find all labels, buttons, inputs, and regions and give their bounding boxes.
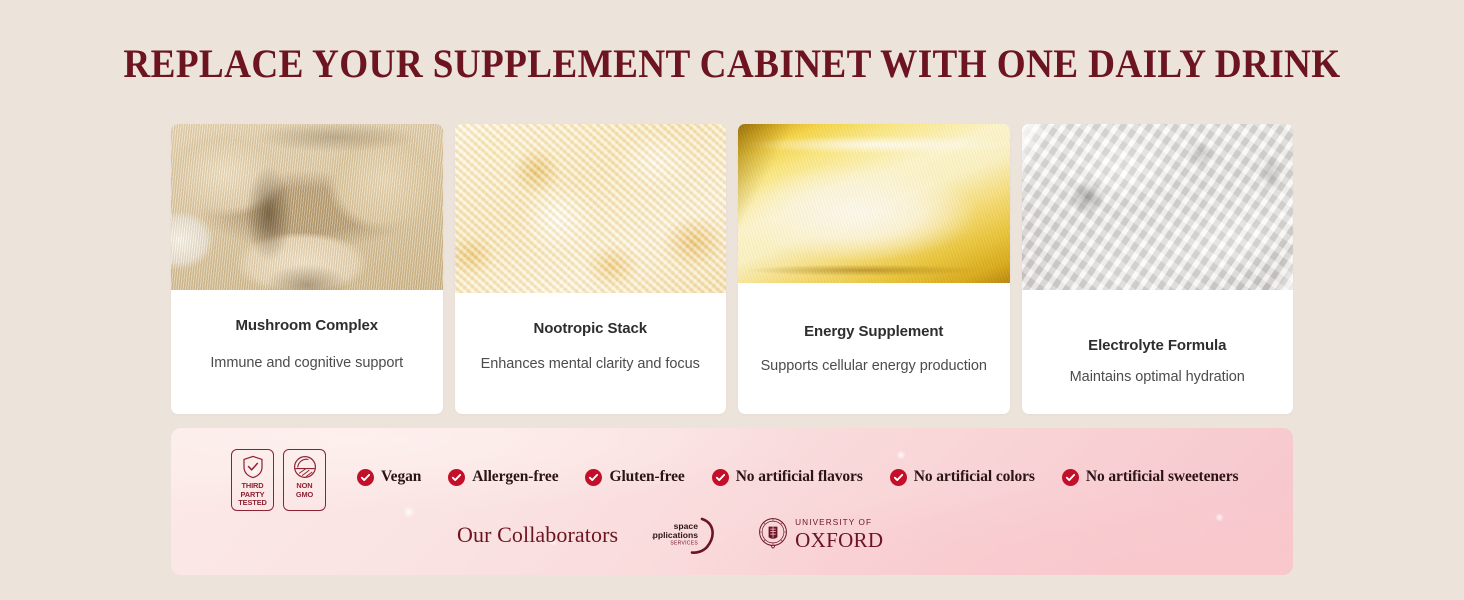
seal-label: NON GMO — [296, 482, 313, 499]
card-body: Mushroom Complex Immune and cognitive su… — [171, 290, 443, 414]
check-circle-icon — [585, 469, 602, 486]
claim-no-artificial-colors: No artificial colors — [890, 468, 1035, 486]
claim-label: Allergen-free — [472, 468, 558, 486]
claim-label: Gluten-free — [609, 468, 684, 486]
check-circle-icon — [712, 469, 729, 486]
card-body: Electrolyte Formula Maintains optimal hy… — [1022, 290, 1294, 414]
seal-label: THIRD PARTY TESTED — [238, 482, 267, 508]
oxford-wordmark: UNIVERSITY OF OXFORD — [795, 519, 883, 550]
seal-third-party-tested[interactable]: THIRD PARTY TESTED — [231, 449, 274, 511]
shield-check-icon — [242, 455, 264, 479]
sparkle-decoration — [1215, 513, 1224, 522]
certification-seals: THIRD PARTY TESTED — [231, 449, 326, 511]
promo-page: REPLACE YOUR SUPPLEMENT CABINET WITH ONE… — [0, 0, 1464, 600]
golden-liquid-photo — [738, 124, 1010, 283]
seal-label-line: GMO — [296, 491, 313, 500]
oxford-line-oxford: OXFORD — [795, 530, 883, 551]
sparkle-decoration — [896, 450, 906, 460]
claims-list: Vegan Allergen-free Gluten-free No artif… — [357, 468, 1238, 486]
svg-text:SERVICES: SERVICES — [671, 541, 699, 547]
check-circle-icon — [890, 469, 907, 486]
page-title: REPLACE YOUR SUPPLEMENT CABINET WITH ONE… — [51, 40, 1413, 88]
claim-no-artificial-flavors: No artificial flavors — [712, 468, 863, 486]
collaborators-title: Our Collaborators — [457, 522, 618, 548]
claim-allergen-free: Allergen-free — [448, 468, 558, 486]
card-description: Supports cellular energy production — [761, 357, 987, 376]
ingredient-card-energy-supplement[interactable]: Energy Supplement Supports cellular ener… — [738, 124, 1010, 414]
oxford-crest-icon — [758, 517, 788, 553]
card-description: Maintains optimal hydration — [1070, 368, 1245, 387]
card-description: Immune and cognitive support — [210, 354, 403, 373]
seal-non-gmo[interactable]: NON GMO — [283, 449, 326, 511]
ingredient-card-row: Mushroom Complex Immune and cognitive su… — [171, 124, 1293, 414]
trust-badges-panel: THIRD PARTY TESTED — [171, 428, 1293, 575]
svg-text:applications: applications — [652, 530, 698, 540]
card-title: Nootropic Stack — [533, 320, 647, 337]
claim-no-artificial-sweeteners: No artificial sweeteners — [1062, 468, 1239, 486]
collaborators-row: Our Collaborators space applications SER… — [457, 516, 883, 554]
claim-label: No artificial colors — [914, 468, 1035, 486]
sparkle-decoration — [403, 506, 415, 518]
card-title: Energy Supplement — [804, 323, 943, 340]
card-description: Enhances mental clarity and focus — [481, 355, 700, 374]
university-of-oxford-logo[interactable]: UNIVERSITY OF OXFORD — [758, 517, 883, 553]
salt-crystals-photo — [1022, 124, 1294, 290]
ingredient-card-electrolyte-formula[interactable]: Electrolyte Formula Maintains optimal hy… — [1022, 124, 1294, 414]
lions-mane-mushroom-photo — [171, 124, 443, 290]
white-gold-powder-photo — [455, 124, 727, 293]
check-circle-icon — [357, 469, 374, 486]
check-circle-icon — [448, 469, 465, 486]
ingredient-card-mushroom-complex[interactable]: Mushroom Complex Immune and cognitive su… — [171, 124, 443, 414]
card-body: Energy Supplement Supports cellular ener… — [738, 283, 1010, 414]
card-title: Mushroom Complex — [235, 317, 378, 334]
ingredient-card-nootropic-stack[interactable]: Nootropic Stack Enhances mental clarity … — [455, 124, 727, 414]
space-applications-services-logo[interactable]: space applications SERVICES — [652, 516, 724, 554]
oxford-line-university-of: UNIVERSITY OF — [795, 519, 883, 527]
seal-label-line: TESTED — [238, 499, 267, 508]
card-title: Electrolyte Formula — [1088, 337, 1226, 354]
claim-label: No artificial sweeteners — [1086, 468, 1239, 486]
claim-vegan: Vegan — [357, 468, 421, 486]
claim-gluten-free: Gluten-free — [585, 468, 684, 486]
card-body: Nootropic Stack Enhances mental clarity … — [455, 293, 727, 414]
claim-label: No artificial flavors — [736, 468, 863, 486]
claim-label: Vegan — [381, 468, 421, 486]
non-gmo-circle-icon — [293, 455, 317, 479]
check-circle-icon — [1062, 469, 1079, 486]
